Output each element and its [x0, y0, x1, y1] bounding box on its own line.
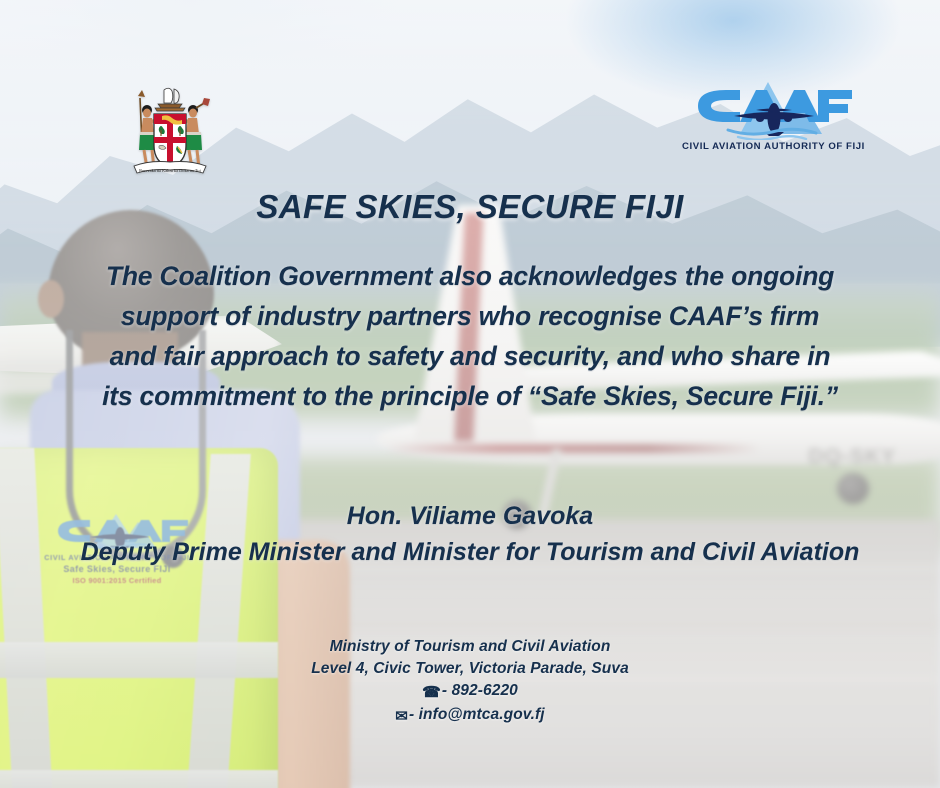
page-title: SAFE SKIES, SECURE FIJI — [0, 188, 940, 226]
telephone-icon: ☎ — [422, 682, 441, 704]
contact-phone-number: - 892-6220 — [442, 682, 518, 699]
minister-name: Hon. Viliame Gavoka — [72, 498, 868, 534]
caaf-logo-caption: CIVIL AVIATION AUTHORITY OF FIJI — [682, 141, 858, 152]
contact-address: Level 4, Civic Tower, Victoria Parade, S… — [140, 658, 800, 680]
contact-block: Ministry of Tourism and Civil Aviation L… — [140, 636, 800, 728]
contact-email-line: ✉- info@mtca.gov.fj — [140, 704, 800, 728]
minister-role: Deputy Prime Minister and Minister for T… — [72, 534, 868, 570]
body-paragraph: The Coalition Government also acknowledg… — [96, 256, 844, 416]
contact-phone-line: ☎- 892-6220 — [140, 680, 800, 704]
contact-email-address: - info@mtca.gov.fj — [409, 706, 545, 723]
contact-ministry: Ministry of Tourism and Civil Aviation — [140, 636, 800, 658]
poster-canvas: DQ-SKY — [0, 0, 940, 788]
caaf-mark-icon — [682, 80, 858, 140]
svg-text:Rerevaka na Kalou ka Doka na T: Rerevaka na Kalou ka Doka na Tui — [139, 168, 201, 173]
caaf-logo: CIVIL AVIATION AUTHORITY OF FIJI — [682, 80, 858, 162]
poster-content: Rerevaka na Kalou ka Doka na Tui — [0, 0, 940, 788]
envelope-icon: ✉ — [395, 706, 408, 728]
fiji-coat-of-arms-icon: Rerevaka na Kalou ka Doka na Tui — [118, 84, 222, 180]
attribution-block: Hon. Viliame Gavoka Deputy Prime Ministe… — [72, 498, 868, 570]
